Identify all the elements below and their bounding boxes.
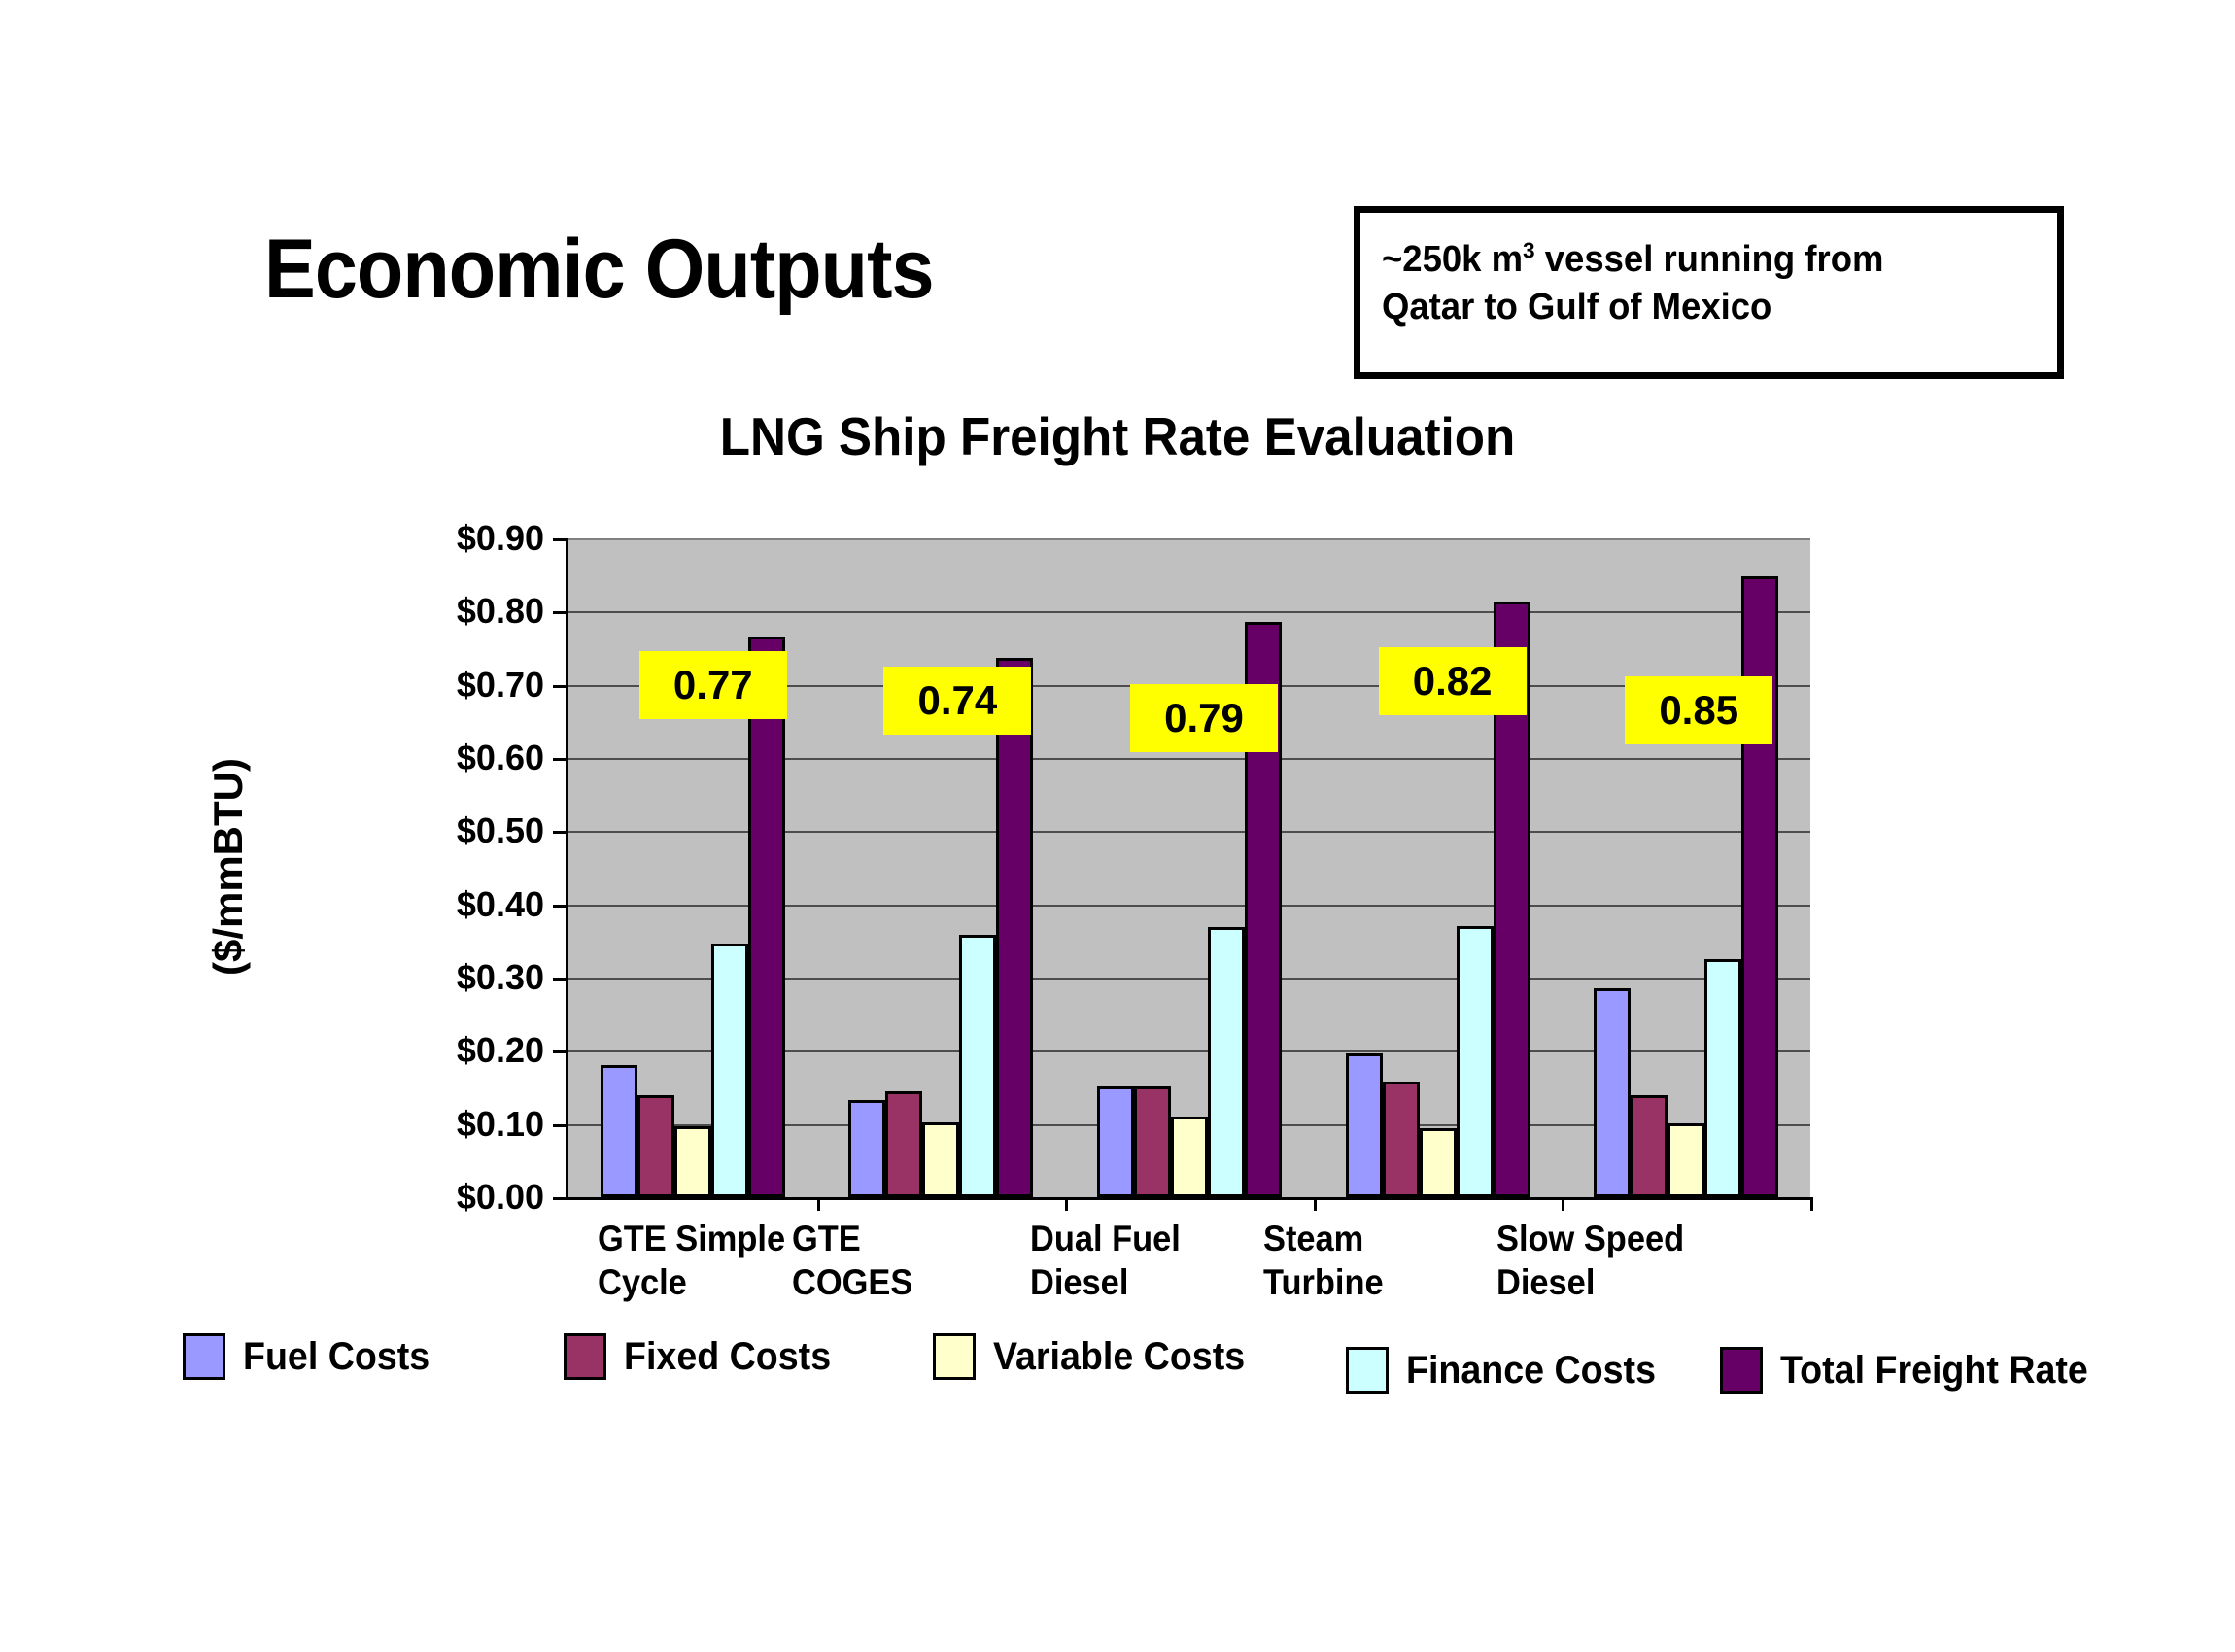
- x-axis-category-label: Dual Fuel Diesel: [1030, 1217, 1181, 1304]
- bar: [922, 1122, 959, 1197]
- bar: [1594, 988, 1631, 1197]
- y-axis-tick-label: $0.00: [457, 1177, 544, 1218]
- gridline: [568, 611, 1810, 613]
- y-axis-tick: [553, 978, 566, 981]
- bar: [848, 1100, 885, 1197]
- legend-swatch: [183, 1333, 225, 1380]
- legend-item[interactable]: Total Freight Rate: [1720, 1347, 2108, 1394]
- gridline: [568, 538, 1810, 540]
- y-axis-tick: [553, 611, 566, 614]
- y-axis-title: ($/mmBTU): [189, 537, 267, 1196]
- legend-label: Fuel Costs: [243, 1335, 430, 1379]
- bar: [959, 935, 996, 1197]
- y-axis-tick-label: $0.80: [457, 591, 544, 632]
- legend-label: Fixed Costs: [624, 1335, 831, 1379]
- y-axis-tick-label: $0.40: [457, 884, 544, 925]
- x-axis-category-label: Slow Speed Diesel: [1496, 1217, 1684, 1304]
- bar: [1741, 576, 1778, 1197]
- y-axis-tick-label: $0.10: [457, 1104, 544, 1145]
- legend-item[interactable]: Fuel Costs: [183, 1333, 441, 1380]
- y-axis-tick-label: $0.20: [457, 1030, 544, 1071]
- x-axis-tick: [1314, 1197, 1317, 1211]
- legend-item[interactable]: Fixed Costs: [564, 1333, 844, 1380]
- bar: [1346, 1053, 1383, 1197]
- legend-label: Variable Costs: [993, 1335, 1245, 1379]
- bar: [1631, 1095, 1668, 1197]
- value-annotation: 0.82: [1379, 647, 1527, 715]
- legend-swatch: [933, 1333, 976, 1380]
- legend-label: Finance Costs: [1406, 1349, 1656, 1393]
- legend-swatch: [1346, 1347, 1389, 1394]
- bar: [1420, 1128, 1457, 1197]
- y-axis-tick-label: $0.50: [457, 810, 544, 851]
- bar: [1668, 1123, 1704, 1197]
- bar: [996, 658, 1033, 1197]
- plot-area: 0.770.740.790.820.85: [566, 538, 1810, 1200]
- y-axis-tick-label: $0.90: [457, 518, 544, 559]
- bar: [711, 944, 748, 1197]
- y-axis-tick: [553, 831, 566, 834]
- bar: [1171, 1117, 1208, 1197]
- legend-label: Total Freight Rate: [1780, 1349, 2088, 1393]
- x-axis-tick: [817, 1197, 820, 1211]
- legend-item[interactable]: Variable Costs: [933, 1333, 1261, 1380]
- chart-legend: Fuel CostsFixed CostsVariable CostsFinan…: [0, 1333, 2235, 1411]
- bar: [637, 1095, 674, 1197]
- bar: [1208, 927, 1245, 1197]
- x-axis-tick: [1562, 1197, 1564, 1211]
- y-axis-tick-label: $0.30: [457, 957, 544, 998]
- y-axis-tick-label: $0.60: [457, 738, 544, 778]
- bar: [748, 637, 785, 1197]
- x-axis-category-label: Steam Turbine: [1263, 1217, 1384, 1304]
- x-axis-category-label: GTE Simple Cycle: [598, 1217, 785, 1304]
- legend-swatch: [564, 1333, 606, 1380]
- y-axis-tick: [553, 1124, 566, 1127]
- bar-chart: ($/mmBTU) $0.90$0.80$0.70$0.60$0.50$0.40…: [0, 0, 2235, 1652]
- value-annotation: 0.79: [1130, 684, 1278, 752]
- bar: [601, 1065, 637, 1197]
- y-axis-tick: [553, 538, 566, 541]
- y-axis-tick: [553, 758, 566, 761]
- y-axis-tick: [553, 685, 566, 688]
- bar: [885, 1091, 922, 1197]
- y-axis-tick-label: $0.70: [457, 665, 544, 706]
- x-axis-tick: [1065, 1197, 1068, 1211]
- bar: [1097, 1086, 1134, 1197]
- y-axis-tick: [553, 1197, 566, 1200]
- x-axis-tick: [1810, 1197, 1813, 1211]
- y-axis-tick-labels: $0.90$0.80$0.70$0.60$0.50$0.40$0.30$0.20…: [321, 538, 544, 1197]
- value-annotation: 0.77: [639, 651, 787, 719]
- value-annotation: 0.85: [1625, 676, 1772, 744]
- y-axis-tick: [553, 1050, 566, 1053]
- legend-swatch: [1720, 1347, 1763, 1394]
- bar: [1704, 959, 1741, 1197]
- value-annotation: 0.74: [883, 667, 1031, 735]
- bar: [1457, 926, 1494, 1197]
- bar: [1383, 1082, 1420, 1197]
- x-axis-category-label: GTE COGES: [792, 1217, 912, 1304]
- y-axis-tick: [553, 905, 566, 908]
- legend-item[interactable]: Finance Costs: [1346, 1347, 1671, 1394]
- bar: [1134, 1086, 1171, 1198]
- bar: [674, 1126, 711, 1197]
